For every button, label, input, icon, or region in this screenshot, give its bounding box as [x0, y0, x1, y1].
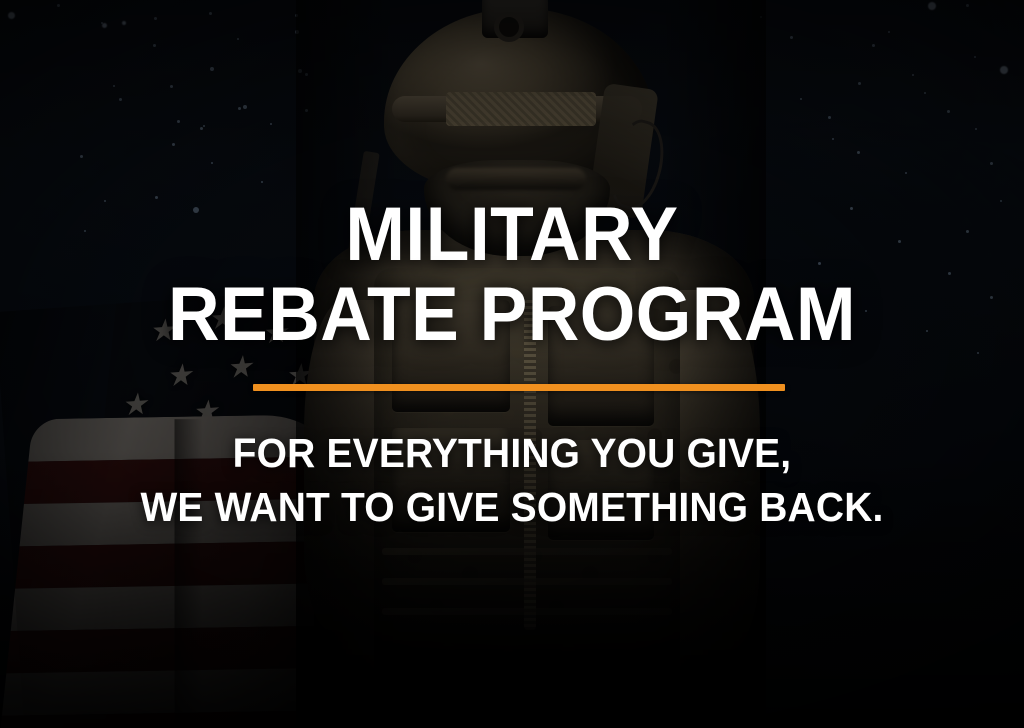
headline-line-2: REBATE PROGRAM — [31, 279, 994, 350]
orange-divider — [253, 384, 785, 391]
military-rebate-banner: MILITARY REBATE PROGRAM FOR EVERYTHING Y… — [0, 0, 1024, 728]
subheadline-line-2: WE WANT TO GIVE SOMETHING BACK. — [26, 487, 999, 528]
banner-content: MILITARY REBATE PROGRAM FOR EVERYTHING Y… — [0, 0, 1024, 728]
headline-line-1: MILITARY — [31, 199, 994, 270]
subheadline-line-1: FOR EVERYTHING YOU GIVE, — [26, 433, 999, 474]
